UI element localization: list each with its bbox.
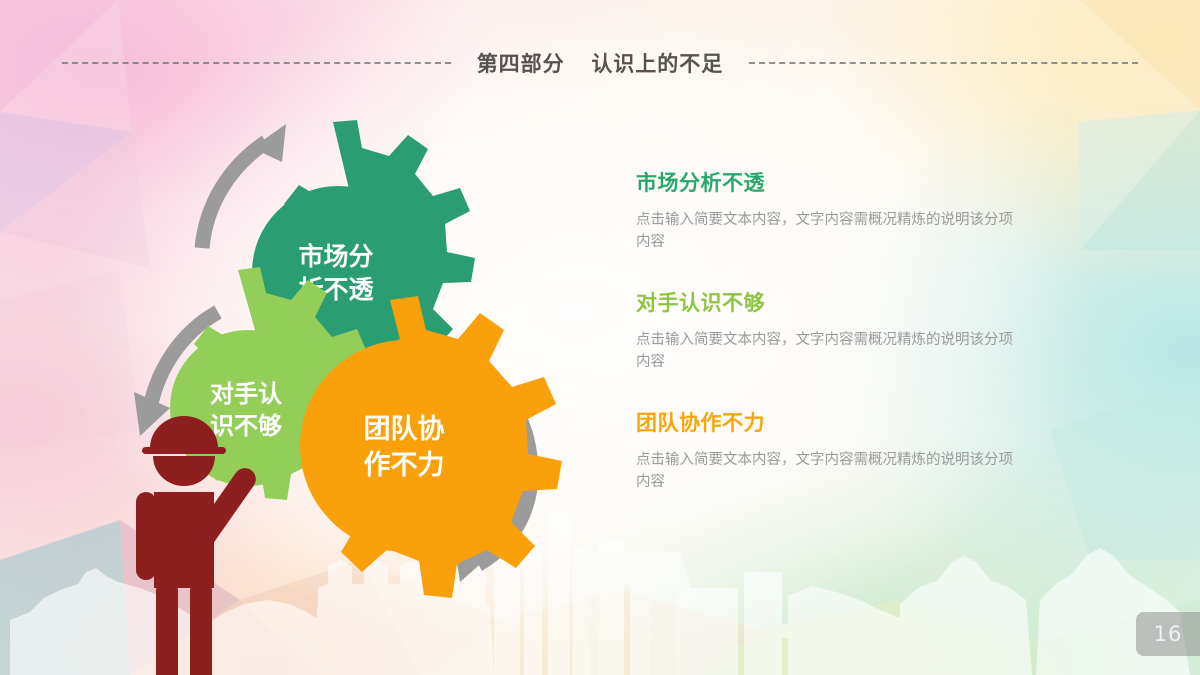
gear-diagram-svg: 市场分 析不透 对手认 识不够 团队协 作不力 [120,100,640,640]
page-number-badge: 16 [1136,612,1200,656]
item-body-teamwork: 点击输入简要文本内容，文字内容需概况精炼的说明该分项内容 [636,449,1026,493]
item-heading-market: 市场分析不透 [636,172,1106,195]
gear-teamwork-label-line2: 作不力 [364,450,445,481]
content-list: 市场分析不透 点击输入简要文本内容，文字内容需概况精炼的说明该分项内容 对手认识… [636,172,1106,493]
gear-teamwork-label-line1: 团队协 [364,414,445,445]
title-main-label: 认识上的不足 [591,52,723,76]
title-dash-right [749,62,1138,64]
title-dash-left [62,62,451,64]
title-section-label: 第四部分 [477,52,565,76]
list-item-market: 市场分析不透 点击输入简要文本内容，文字内容需概况精炼的说明该分项内容 [636,172,1106,253]
list-item-competitor: 对手认识不够 点击输入简要文本内容，文字内容需概况精炼的说明该分项内容 [636,292,1106,373]
gear-market-label-line1: 市场分 [298,242,373,271]
gear-competitor-label-line1: 对手认 [210,380,282,408]
page-title: 第四部分 认识上的不足 [451,48,750,78]
slide-title-bar: 第四部分 认识上的不足 [0,46,1200,80]
item-heading-competitor: 对手认识不够 [636,292,1106,315]
gear-competitor-label-line2: 识不够 [210,412,282,440]
gear-diagram: 市场分 析不透 对手认 识不够 团队协 作不力 [120,100,640,640]
item-heading-teamwork: 团队协作不力 [636,412,1106,435]
list-item-teamwork: 团队协作不力 点击输入简要文本内容，文字内容需概况精炼的说明该分项内容 [636,412,1106,493]
item-body-market: 点击输入简要文本内容，文字内容需概况精炼的说明该分项内容 [636,209,1026,253]
presentation-slide: 第四部分 认识上的不足 [0,0,1200,675]
item-body-competitor: 点击输入简要文本内容，文字内容需概况精炼的说明该分项内容 [636,329,1026,373]
